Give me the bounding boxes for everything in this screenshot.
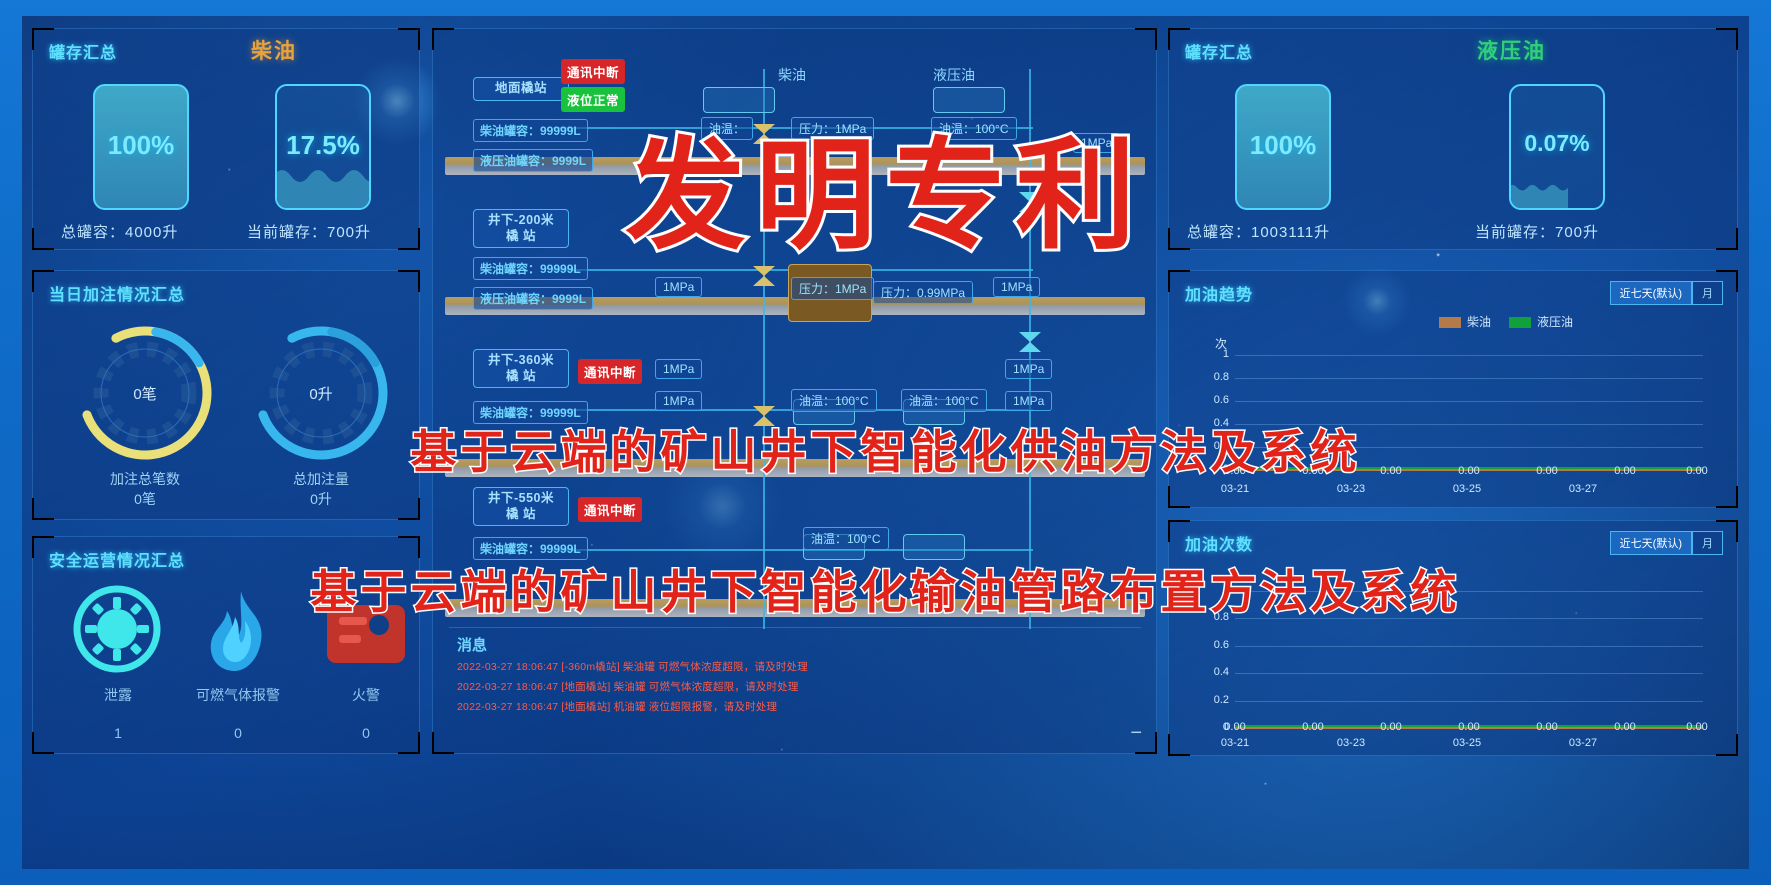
- safety-label-0: 泄露: [63, 685, 173, 705]
- message-list[interactable]: 2022-03-27 18:06:47 [-360m橇站] 柴油罐 可燃气体浓度…: [457, 658, 808, 718]
- panel-subtitle-diesel: 柴油: [251, 35, 297, 65]
- gauge-refuel-count: 0笔: [75, 323, 215, 463]
- corner-decoration: [1168, 486, 1190, 508]
- station-tag-1-1: 液压油罐容：9999L: [473, 287, 593, 310]
- tank-current-caption-right: 当前罐存：700升: [1475, 221, 1599, 242]
- corner-decoration: [32, 228, 54, 250]
- watermark-line-1: 基于云端的矿山井下智能化供油方法及系统: [411, 416, 1361, 482]
- gauge-count-caption-line1: 加注总笔数: [110, 471, 180, 487]
- zoom-out-icon[interactable]: −: [1130, 722, 1142, 745]
- message-line-0: 2022-03-27 18:06:47 [-360m橇站] 柴油罐 可燃气体浓度…: [457, 658, 808, 678]
- legend-label-hydraulic: 液压油: [1537, 315, 1573, 329]
- corner-decoration: [1716, 228, 1738, 250]
- flame-icon: [201, 589, 277, 675]
- trend-ytick-3: 0.6: [1199, 394, 1229, 406]
- count-pointlabel-2: 0.00: [1369, 721, 1413, 733]
- corner-decoration: [398, 28, 420, 50]
- trend-xtick-0: 03-21: [1213, 483, 1257, 495]
- tank-total-gauge-left: 100%: [93, 84, 189, 210]
- tank-current-value-left: 17.5%: [277, 130, 369, 161]
- legend-item-diesel: 柴油: [1439, 313, 1491, 330]
- count-pointlabel-5: 0.00: [1603, 721, 1647, 733]
- count-xtick-1: 03-23: [1329, 737, 1373, 749]
- trend-pointlabel-5: 0.00: [1603, 465, 1647, 477]
- count-ytick-2: 0.4: [1199, 666, 1229, 678]
- legend-swatch-diesel: [1439, 317, 1461, 328]
- gauge-refuel-volume: 0升: [251, 323, 391, 463]
- oil-label-diesel: 柴油: [778, 65, 806, 85]
- corner-decoration: [1716, 28, 1738, 50]
- safety-value-0: 1: [63, 725, 173, 741]
- gauge-count-caption-line2: 0笔: [134, 491, 156, 507]
- panel-title-safety: 安全运营情况汇总: [49, 547, 185, 571]
- message-line-1: 2022-03-27 18:06:47 [地面橇站] 柴油罐 可燃气体浓度超限，…: [457, 678, 808, 698]
- station-tag-1-0: 柴油罐容：99999L: [473, 257, 588, 280]
- legend-label-diesel: 柴油: [1467, 315, 1491, 329]
- trend-pointlabel-6: 0.00: [1675, 465, 1719, 477]
- meter-pressure-7: 1MPa: [1005, 359, 1052, 379]
- message-panel: 消息 2022-03-27 18:06:47 [-360m橇站] 柴油罐 可燃气…: [449, 627, 1141, 745]
- gauge-volume-caption-line2: 0升: [310, 491, 332, 507]
- right-tank-panel: 罐存汇总 液压油 100% 0.07% 总罐容：1003111升 当前罐存：70…: [1168, 28, 1738, 250]
- panel-title-right-tank: 罐存汇总: [1185, 39, 1253, 63]
- meter-oil-temp-4: 油温：100°C: [803, 527, 889, 550]
- tank-wave-icon-right: [1509, 182, 1569, 208]
- tank-current-value-right: 0.07%: [1511, 130, 1603, 157]
- corner-decoration: [1716, 486, 1738, 508]
- station-label-3[interactable]: 井下-550米 橇 站: [473, 487, 569, 526]
- trend-tab-month[interactable]: 月: [1692, 281, 1723, 305]
- trend-xtick-1: 03-23: [1329, 483, 1373, 495]
- valve-icon-5: [1017, 329, 1043, 355]
- safety-label-1: 可燃气体报警: [183, 685, 293, 705]
- meter-oil-temp-2: 油温：100°C: [791, 389, 877, 412]
- meter-pressure-8: 1MPa: [655, 391, 702, 411]
- watermark-title: 发明专利: [626, 98, 1146, 272]
- count-xtick-0: 03-21: [1213, 737, 1257, 749]
- count-range-tabs[interactable]: 近七天(默认) 月: [1610, 531, 1723, 555]
- panel-title-refuel: 当日加注情况汇总: [49, 281, 185, 305]
- safety-label-2: 火警: [311, 685, 421, 705]
- count-pointlabel-0: 0.00: [1213, 721, 1257, 733]
- gauge-refuel-volume-value: 0升: [251, 323, 391, 463]
- gear-icon: [71, 583, 163, 675]
- trend-xtick-2: 03-25: [1445, 483, 1489, 495]
- trend-range-tabs[interactable]: 近七天(默认) 月: [1610, 281, 1723, 305]
- trend-pointlabel-3: 0.00: [1447, 465, 1491, 477]
- corner-decoration: [1168, 734, 1190, 756]
- tank-total-value-left: 100%: [95, 130, 187, 161]
- tank-total-caption-right: 总罐容：1003111升: [1187, 221, 1330, 242]
- oil-label-hydraulic: 液压油: [933, 65, 975, 85]
- trend-pointlabel-4: 0.00: [1525, 465, 1569, 477]
- meter-pressure-5: 1MPa: [993, 277, 1040, 297]
- corner-decoration: [32, 732, 54, 754]
- corner-decoration: [398, 536, 420, 558]
- screenshot-root: 罐存汇总 柴油 100% 17.5% 总罐容：4000升 当前罐存：700升 当…: [0, 0, 1771, 885]
- legend-swatch-hydraulic: [1509, 317, 1531, 328]
- count-pointlabel-3: 0.00: [1447, 721, 1491, 733]
- meter-pressure-4: 压力：0.99MPa: [873, 281, 973, 304]
- dashboard-screen: 罐存汇总 柴油 100% 17.5% 总罐容：4000升 当前罐存：700升 当…: [22, 16, 1749, 869]
- station-badge-0-1: 液位正常: [561, 87, 625, 112]
- panel-title-count: 加油次数: [1185, 531, 1253, 555]
- corner-decoration: [432, 28, 454, 50]
- message-line-2: 2022-03-27 18:06:47 [地面橇站] 机油罐 液位超限报警，请及…: [457, 698, 808, 718]
- panel-title-left-tank: 罐存汇总: [49, 39, 117, 63]
- panel-subtitle-hydraulic: 液压油: [1477, 35, 1546, 65]
- meter-pressure-6: 1MPa: [655, 359, 702, 379]
- station-label-0[interactable]: 地面橇站: [473, 77, 569, 101]
- tank-total-value-right: 100%: [1237, 130, 1329, 161]
- watermark-line-2: 基于云端的矿山井下智能化输油管路布置方法及系统: [311, 556, 1461, 622]
- corner-decoration: [1135, 28, 1157, 50]
- tank-total-caption-left: 总罐容：4000升: [61, 221, 178, 242]
- left-tank-panel: 罐存汇总 柴油 100% 17.5% 总罐容：4000升 当前罐存：700升: [32, 28, 420, 250]
- count-tab-week[interactable]: 近七天(默认): [1610, 531, 1692, 555]
- gauge-refuel-count-caption: 加注总笔数 0笔: [55, 469, 235, 510]
- count-pointlabel-6: 0.00: [1675, 721, 1719, 733]
- count-xtick-3: 03-27: [1561, 737, 1605, 749]
- gauge-refuel-volume-caption: 总加注量 0升: [231, 469, 411, 510]
- meter-oil-temp-3: 油温：100°C: [901, 389, 987, 412]
- trend-ytick-5: 1: [1199, 348, 1229, 360]
- station-tag-0-1: 液压油罐容：9999L: [473, 149, 593, 172]
- station-badge-0-0: 通讯中断: [561, 59, 625, 84]
- corner-decoration: [398, 228, 420, 250]
- trend-legend: 柴油 液压油: [1439, 313, 1573, 330]
- station-badge-3-0: 通讯中断: [578, 497, 642, 522]
- tank-current-caption-left: 当前罐存：700升: [247, 221, 371, 242]
- count-ytick-3: 0.6: [1199, 639, 1229, 651]
- gauge-volume-caption-line1: 总加注量: [293, 471, 349, 487]
- tank-current-gauge-right: 0.07%: [1509, 84, 1605, 210]
- station-label-1[interactable]: 井下-200米 橇 站: [473, 209, 569, 248]
- meter-pressure-9: 1MPa: [1005, 391, 1052, 411]
- left-refuel-panel: 当日加注情况汇总 0笔 0升 加注总笔数 0笔 总加注量: [32, 270, 420, 520]
- count-xtick-2: 03-25: [1445, 737, 1489, 749]
- panel-title-trend: 加油趋势: [1185, 281, 1253, 305]
- message-panel-title: 消息: [457, 634, 487, 655]
- gauge-refuel-count-value: 0笔: [75, 323, 215, 463]
- tank-current-gauge-left: 17.5%: [275, 84, 371, 210]
- trend-ytick-4: 0.8: [1199, 371, 1229, 383]
- corner-decoration: [1716, 734, 1738, 756]
- station-label-2[interactable]: 井下-360米 橇 站: [473, 349, 569, 388]
- safety-value-2: 0: [311, 725, 421, 741]
- legend-item-hydraulic: 液压油: [1509, 313, 1573, 330]
- count-pointlabel-4: 0.00: [1525, 721, 1569, 733]
- corner-decoration: [32, 498, 54, 520]
- count-tab-month[interactable]: 月: [1692, 531, 1723, 555]
- trend-tab-week[interactable]: 近七天(默认): [1610, 281, 1692, 305]
- count-ytick-1: 0.2: [1199, 694, 1229, 706]
- tank-total-gauge-right: 100%: [1235, 84, 1331, 210]
- corner-decoration: [398, 270, 420, 292]
- meter-pressure-2: 1MPa: [655, 277, 702, 297]
- safety-value-1: 0: [183, 725, 293, 741]
- trend-pointlabel-2: 0.00: [1369, 465, 1413, 477]
- trend-xtick-3: 03-27: [1561, 483, 1605, 495]
- meter-pressure-3: 压力：1MPa: [791, 277, 874, 300]
- station-tag-0-0: 柴油罐容：99999L: [473, 119, 588, 142]
- station-badge-2-0: 通讯中断: [578, 359, 642, 384]
- count-pointlabel-1: 0.00: [1291, 721, 1335, 733]
- tank-wave-icon: [275, 162, 371, 208]
